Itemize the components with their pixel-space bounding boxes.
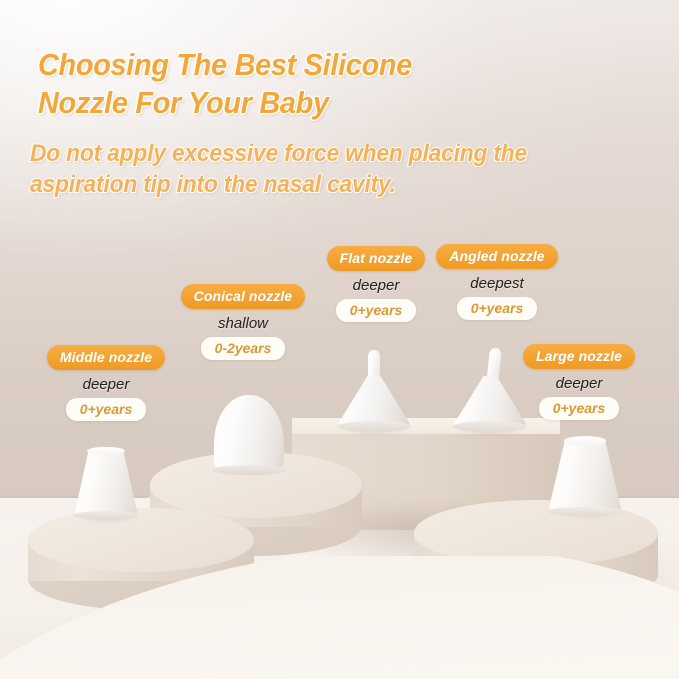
page-title: Choosing The Best Silicone Nozzle For Yo…	[38, 46, 596, 122]
nozzle-conical-body	[214, 395, 284, 470]
page-title-line2: Nozzle For Your Baby	[38, 84, 596, 122]
nozzle-middle-body	[74, 450, 138, 516]
label-flat-nozzle-depth: deeper	[312, 277, 440, 294]
label-conical-nozzle-name: Conical nozzle	[181, 284, 306, 309]
nozzle-angled-base	[453, 421, 528, 432]
page-subtitle-line2: aspiration tip into the nasal cavity.	[30, 169, 619, 200]
nozzle-large-base	[547, 507, 624, 516]
callout-middle-nozzle: Middle nozzle deeper 0+years	[32, 345, 180, 421]
label-large-nozzle-depth: deeper	[510, 375, 648, 392]
callout-large-nozzle: Large nozzle deeper 0+years	[510, 344, 648, 420]
label-middle-nozzle-name: Middle nozzle	[47, 345, 165, 370]
label-angled-nozzle-name: Angled nozzle	[436, 244, 557, 269]
callout-flat-nozzle: Flat nozzle deeper 0+years	[312, 246, 440, 322]
bottom-orange-swoosh	[0, 556, 679, 679]
swoosh-white-overlay	[0, 556, 679, 679]
label-angled-nozzle-age: 0+years	[457, 297, 538, 320]
label-conical-nozzle-depth: shallow	[168, 315, 318, 332]
label-angled-nozzle-depth: deepest	[428, 275, 566, 292]
nozzle-flat	[338, 350, 410, 428]
nozzle-conical	[214, 395, 284, 470]
label-flat-nozzle-name: Flat nozzle	[327, 246, 426, 271]
infographic-canvas: Choosing The Best Silicone Nozzle For Yo…	[0, 0, 679, 679]
callout-angled-nozzle: Angled nozzle deepest 0+years	[428, 244, 566, 320]
label-middle-nozzle-age: 0+years	[66, 398, 147, 421]
nozzle-conical-base	[212, 465, 286, 475]
page-title-line1: Choosing The Best Silicone	[38, 46, 596, 84]
label-large-nozzle-name: Large nozzle	[523, 344, 635, 369]
callout-conical-nozzle: Conical nozzle shallow 0-2years	[168, 284, 318, 360]
page-subtitle: Do not apply excessive force when placin…	[30, 138, 619, 200]
label-flat-nozzle-age: 0+years	[336, 299, 417, 322]
label-large-nozzle-age: 0+years	[539, 397, 620, 420]
page-subtitle-line1: Do not apply excessive force when placin…	[30, 138, 619, 169]
label-conical-nozzle-age: 0-2years	[201, 337, 286, 360]
nozzle-large-body	[548, 440, 622, 512]
nozzle-middle-top	[87, 447, 124, 456]
label-middle-nozzle-depth: deeper	[32, 376, 180, 393]
nozzle-large	[548, 440, 622, 512]
nozzle-middle	[74, 450, 138, 516]
nozzle-large-top	[564, 436, 607, 445]
nozzle-flat-base	[337, 421, 412, 432]
